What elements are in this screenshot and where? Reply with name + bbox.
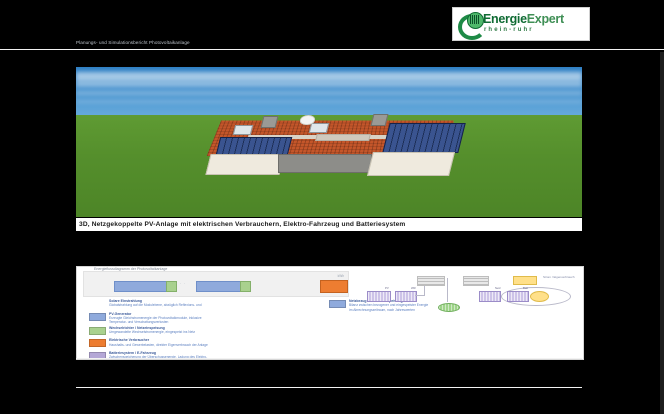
panel-toolbar-title: Energieflussdiagramm der Photovoltaikanl…	[94, 267, 167, 271]
flow-note: Strom / Eigenverbrauch	[543, 275, 575, 279]
list-item: Solare Einstrahlung Globalstrahlung auf …	[85, 299, 317, 310]
logo-wordmark: EnergieExpert	[483, 12, 564, 26]
viewport-3d[interactable]	[76, 67, 582, 217]
footer-divider-bottom	[76, 387, 582, 388]
energy-flow-panel[interactable]: Energieflussdiagramm der Photovoltaikanl…	[76, 266, 584, 360]
flow-node-grid[interactable]	[479, 291, 501, 302]
panel-toolbar[interactable]: Energieflussdiagramm der Photovoltaikanl…	[83, 271, 349, 297]
legend-desc: Temperatur- und Verschattungsverlusten	[109, 320, 317, 324]
legend-swatch-green	[89, 327, 106, 335]
cloud-band	[76, 72, 582, 81]
figure-caption: 3D, Netzgekoppelte PV-Anlage mit elektri…	[76, 218, 582, 231]
logo-tagline: rhein-ruhr	[484, 27, 534, 33]
flow-node-battery[interactable]	[507, 291, 529, 302]
legend-desc: Haushalts- und Gewerbelasten, direkter E…	[109, 343, 317, 347]
segment-blue-2[interactable]	[196, 281, 242, 292]
segment-orange[interactable]	[320, 280, 348, 293]
cloud-band	[76, 91, 582, 95]
list-item: Wechselrichter / Netzeinspeisung Umgewan…	[85, 326, 317, 337]
legend-swatch-orange	[89, 339, 106, 347]
earth-ground-icon	[438, 303, 460, 312]
cloud-band	[76, 100, 582, 103]
footer-divider-top	[76, 358, 582, 359]
flow-bar-2	[463, 276, 489, 286]
segment-blue-1[interactable]	[114, 281, 168, 292]
logo-word-expert: Expert	[527, 12, 564, 26]
segment-dots: · · · ·	[172, 282, 186, 286]
globe-leaf-icon	[458, 12, 482, 34]
building-model	[204, 114, 464, 176]
roof-walkway	[315, 134, 371, 141]
pv-array-left	[216, 137, 292, 155]
company-logo: EnergieExpert rhein-ruhr	[452, 7, 590, 41]
legend-desc: Globalstrahlung auf die Modulebene, abzü…	[109, 303, 317, 307]
list-item: Elektrische Verbraucher Haushalts- und G…	[85, 338, 317, 349]
legend-swatch-blue	[329, 300, 346, 308]
flow-bar-1	[417, 276, 445, 286]
skylight	[233, 125, 253, 135]
segment-green-cap-2[interactable]	[240, 281, 251, 292]
logo-word-energie: Energie	[483, 12, 527, 26]
document-page: EnergieExpert rhein-ruhr Planungs- und S…	[0, 0, 664, 414]
panel-toolbar-unit: kWh	[338, 274, 344, 278]
flow-bar-yellow	[513, 276, 537, 285]
flow-link	[447, 278, 448, 302]
legend-desc: Umgewandelte Wechselstromenergie, einges…	[109, 330, 317, 334]
cloud-band	[76, 81, 582, 87]
skylight	[309, 123, 329, 133]
legend-desc: Fahrzeugs	[109, 359, 317, 360]
legend-left: Solare Einstrahlung Globalstrahlung auf …	[85, 299, 317, 360]
header-title: Planungs- und Simulationsbericht Photovo…	[76, 38, 376, 47]
wall-left	[205, 154, 284, 175]
list-item: PV-Generator Erzeugte Gleichstromenergie…	[85, 312, 317, 325]
figure-caption-text: 3D, Netzgekoppelte PV-Anlage mit elektri…	[76, 221, 405, 228]
chimney	[371, 114, 389, 126]
sun-icon	[530, 291, 549, 302]
flow-node-inverter[interactable]	[395, 291, 417, 302]
wall-middle	[278, 154, 372, 173]
header-divider	[0, 49, 664, 50]
wall-right	[367, 152, 455, 176]
scrollbar[interactable]	[660, 52, 664, 414]
legend-swatch-blue	[89, 313, 106, 321]
chimney	[261, 116, 279, 128]
pv-array-right	[382, 123, 465, 153]
flow-node-pv[interactable]	[367, 291, 391, 302]
flow-diagram: PV WR Netz Batt Strom / Eigenverbrauch	[367, 273, 579, 327]
